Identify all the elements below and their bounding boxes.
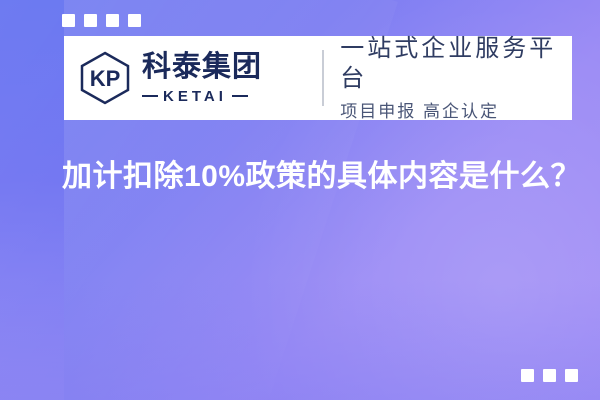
logo-wordmark: 科泰集团 KETAI (142, 53, 262, 104)
dot-icon (62, 14, 75, 27)
top-dot-grid-decoration (62, 14, 141, 27)
brand-name-cn: 科泰集团 (142, 53, 262, 82)
slogan-block: 一站式企业服务平台 项目申报 高企认定 (340, 34, 572, 122)
dash-icon (142, 95, 158, 97)
brand-name-en: KETAI (163, 89, 227, 104)
vertical-divider (322, 50, 324, 106)
dot-icon (106, 14, 119, 27)
brand-name-en-row: KETAI (142, 89, 262, 104)
dot-icon (521, 369, 534, 382)
headline-title: 加计扣除10%政策的具体内容是什么？ (62, 156, 582, 199)
ketai-logo-icon: KP (78, 51, 132, 105)
brand-card: KP 科泰集团 KETAI 一站式企业服务平台 项目申报 高企认定 (64, 36, 572, 120)
logo-lockup: KP 科泰集团 KETAI (78, 51, 318, 105)
left-gradient-panel (0, 0, 64, 400)
svg-text:KP: KP (90, 66, 121, 91)
bottom-dot-grid-decoration (521, 369, 578, 382)
slogan-sub: 项目申报 高企认定 (340, 102, 572, 122)
dash-icon (232, 95, 248, 97)
dot-icon (565, 369, 578, 382)
dot-icon (84, 14, 97, 27)
dot-icon (543, 369, 556, 382)
slogan-main: 一站式企业服务平台 (340, 34, 572, 94)
bottom-shade-decoration (0, 280, 600, 400)
dot-icon (128, 14, 141, 27)
promo-banner: KP 科泰集团 KETAI 一站式企业服务平台 项目申报 高企认定 加计扣除10… (0, 0, 600, 400)
